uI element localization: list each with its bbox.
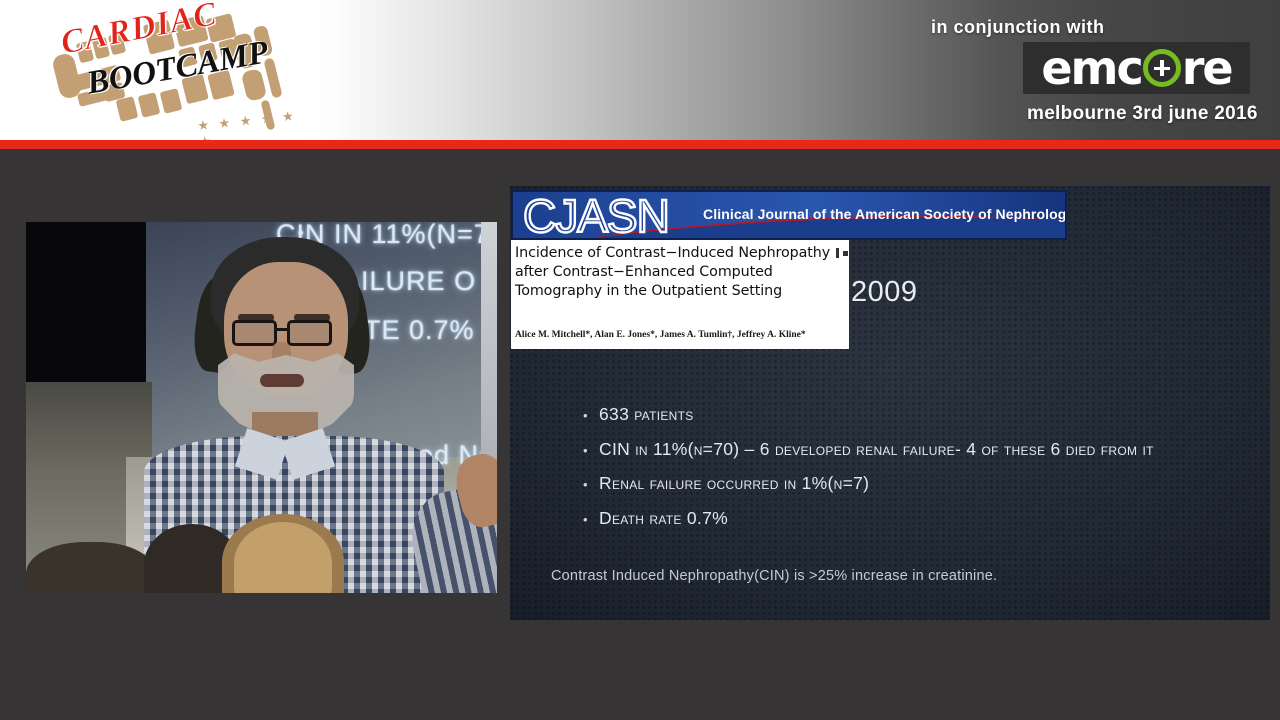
bullet-text: Death rate 0.7% [599,508,728,528]
journal-article-clipping: CJASN Clinical Journal of the American S… [511,190,1069,349]
bullet-marker-icon: • [583,441,599,461]
article-marker-icon [836,248,854,258]
header-red-divider [0,140,1280,149]
bullet-text: CIN in 11%(n=70) – 6 developed renal fai… [599,439,1154,459]
speaker-glasses-bridge [277,328,287,331]
in-conjunction-with-label: in conjunction with [931,17,1104,38]
list-item: • 633 patients [583,404,1243,426]
cjasn-banner: CJASN Clinical Journal of the American S… [511,190,1067,240]
player-stage: CARDIAC BOOTCAMP ★ ★ ★ ★ ★ ★ in conjunct… [0,0,1280,720]
emcore-wordmark: emc re [1041,45,1231,91]
slide-bullet-list: • 633 patients • CIN in 11%(n=70) – 6 de… [583,404,1243,542]
list-item: • Death rate 0.7% [583,508,1243,530]
event-header-banner: CARDIAC BOOTCAMP ★ ★ ★ ★ ★ ★ in conjunct… [0,0,1280,140]
emcore-text-part2: re [1182,45,1232,91]
speaker-mouth [260,374,304,387]
emcore-plus-circle-icon [1143,49,1181,87]
presentation-slide-panel[interactable]: CJASN Clinical Journal of the American S… [510,186,1270,620]
list-item: • Renal failure occurred in 1%(n=7) [583,473,1243,495]
plus-vertical-bar [1160,60,1164,76]
cjasn-subtitle: Clinical Journal of the American Society… [703,206,1067,222]
bullet-marker-icon: • [583,406,599,426]
bullet-text: Renal failure occurred in 1%(n=7) [599,473,869,493]
article-authors: Alice M. Mitchell*, Alan E. Jones*, Jame… [515,330,849,340]
list-item: • CIN in 11%(n=70) – 6 developed renal f… [583,439,1243,461]
speaker-glasses-right-lens [287,320,332,346]
emcore-text-part1: emc [1041,45,1141,91]
slide-footnote: Contrast Induced Nephropathy(CIN) is >25… [551,568,997,584]
speaker-glasses-left-lens [232,320,277,346]
dark-wall-left [26,222,146,387]
cjasn-wordmark: CJASN [523,190,669,240]
cardiac-bootcamp-logo: CARDIAC BOOTCAMP ★ ★ ★ ★ ★ ★ [28,4,318,136]
bullet-text: 633 patients [599,404,694,424]
icon-bar [836,248,839,258]
publication-year: 2009 [851,276,918,309]
bullet-marker-icon: • [583,475,599,495]
icon-dot [843,251,848,256]
article-title: Incidence of Contrast−Induced Nephropath… [515,244,849,301]
event-date-location-label: melbourne 3rd june 2016 [1027,103,1258,125]
audience-head-3 [26,542,156,593]
bullet-marker-icon: • [583,510,599,530]
speaker-video-panel[interactable]: • CIN IN 11%(N=7 ENAL FAILURE O EATH RAT… [26,222,497,593]
emcore-logo: emc re [1023,42,1250,94]
